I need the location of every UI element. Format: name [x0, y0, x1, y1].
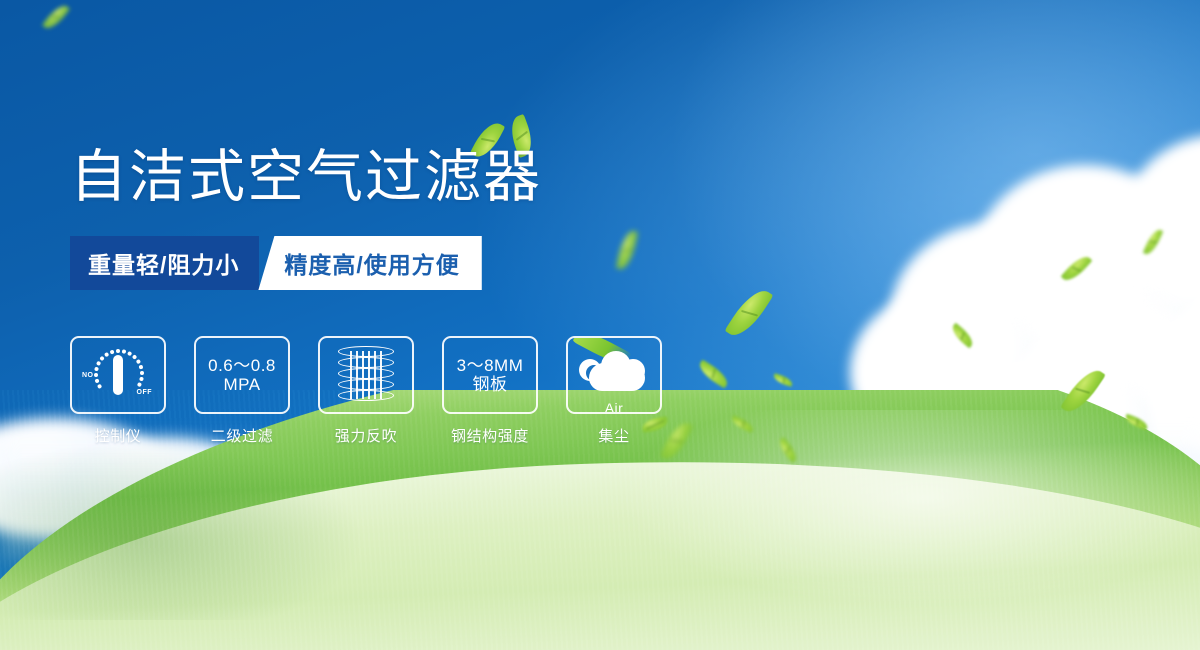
feature-icon-box: 3～8MM 钢板 — [442, 336, 538, 414]
feature-label: 二级过滤 — [194, 425, 290, 446]
feature-item[interactable]: 3～8MM 钢板 钢结构强度 — [442, 336, 538, 446]
feature-label: 集尘 — [566, 425, 662, 446]
filter-stack-icon — [338, 346, 394, 404]
feature-item[interactable]: 强力反吹 — [318, 336, 414, 446]
feature-list: NO OFF 控制仪 0.6～0.8 MPA 二级过滤 — [70, 336, 662, 446]
feature-icon-box: Air — [566, 336, 662, 414]
feature-item[interactable]: NO OFF 控制仪 — [70, 336, 166, 446]
subtitle-bar: 重量轻/阻力小 精度高/使用方便 — [70, 236, 482, 290]
gauge-needle-icon — [113, 355, 123, 395]
air-label: Air — [577, 400, 651, 414]
page-title: 自洁式空气过滤器 — [70, 148, 542, 208]
subtitle-left: 重量轻/阻力小 — [70, 236, 259, 290]
feature-label: 强力反吹 — [318, 425, 414, 446]
subtitle-right: 精度高/使用方便 — [258, 236, 481, 290]
feature-label: 控制仪 — [70, 425, 166, 446]
product-banner: 自洁式空气过滤器 重量轻/阻力小 精度高/使用方便 — [0, 0, 1200, 650]
feature-label: 钢结构强度 — [442, 425, 538, 446]
steel-plate-text: 钢板 — [473, 375, 508, 394]
gauge-off-label: OFF — [137, 389, 153, 396]
gauge-on-label: NO — [82, 372, 94, 379]
feature-icon-box — [318, 336, 414, 414]
gauge-icon: NO OFF — [83, 345, 153, 405]
steel-thickness-text: 3～8MM — [457, 356, 524, 375]
feature-icon-box: NO OFF — [70, 336, 166, 414]
pressure-unit-text: MPA — [223, 375, 260, 394]
feature-item[interactable]: Air 集尘 — [566, 336, 662, 446]
feature-icon-box: 0.6～0.8 MPA — [194, 336, 290, 414]
pressure-value-text: 0.6～0.8 — [208, 356, 276, 375]
feature-item[interactable]: 0.6～0.8 MPA 二级过滤 — [194, 336, 290, 446]
air-cloud-icon: Air — [577, 347, 651, 403]
